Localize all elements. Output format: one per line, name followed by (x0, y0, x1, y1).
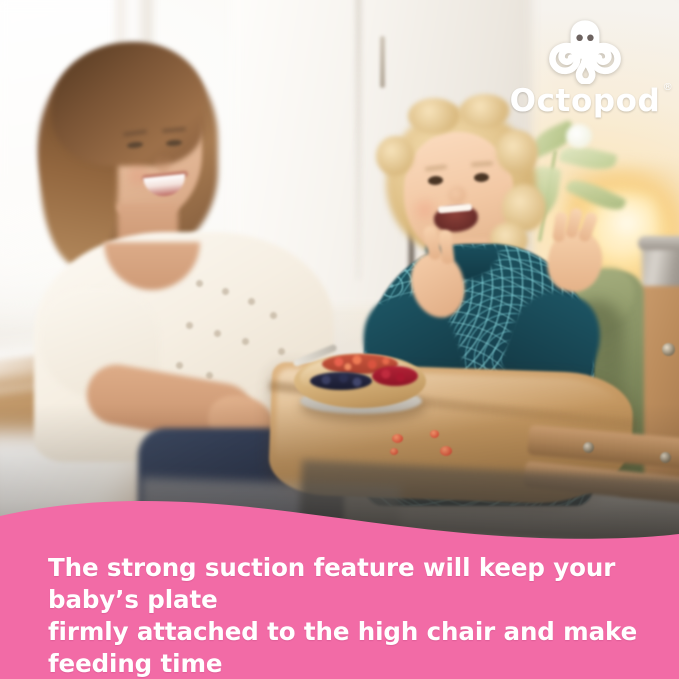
ad-card: Octopod ® The strong suction feature wil… (0, 0, 679, 679)
food-crumb (440, 446, 452, 456)
chair-screw (660, 452, 671, 463)
eyelet-detail (270, 312, 277, 319)
headline-line-1: The strong suction feature will keep you… (48, 552, 638, 616)
canister-lid (638, 236, 679, 250)
eyelet-detail (242, 338, 249, 345)
food-crumb (430, 430, 439, 438)
eyelet-detail (196, 280, 203, 287)
eyelet-detail (176, 362, 183, 369)
cabinet-handle-upper (380, 36, 385, 88)
toddler-curl (376, 136, 414, 176)
toddler-curl (460, 94, 510, 128)
eyelet-detail (248, 298, 255, 305)
toddler-curl (496, 130, 538, 174)
eyelet-detail (206, 372, 213, 379)
toddler-curl (408, 98, 460, 134)
eyelet-detail (278, 348, 285, 355)
eyelet-detail (186, 322, 193, 329)
banner-headline: The strong suction feature will keep you… (48, 552, 638, 679)
eyelet-detail (214, 330, 221, 337)
brand-name: Octopod (510, 83, 661, 119)
food-crumb (392, 434, 403, 443)
raspberry-compartment (372, 366, 418, 386)
toddler-nose (448, 186, 466, 204)
eyelet-detail (222, 288, 229, 295)
brand-wordmark: Octopod ® (510, 86, 661, 117)
brand-logo: Octopod ® (509, 18, 661, 117)
food-crumb (390, 448, 398, 455)
octopus-logo-icon (549, 18, 621, 84)
blueberry-compartment (310, 372, 372, 390)
headline-line-2: firmly attached to the high chair and ma… (48, 616, 638, 679)
registered-trademark-icon: ® (663, 83, 674, 93)
mother-nose (155, 150, 171, 172)
chair-screw (662, 343, 675, 356)
chair-screw (583, 442, 594, 453)
